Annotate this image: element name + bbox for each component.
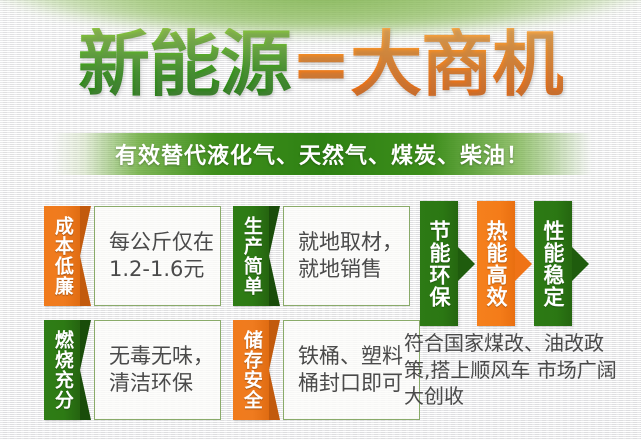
ribbon-label-text: 生产简单 (241, 216, 261, 296)
ribbon-label-combustion: 燃烧充分 (44, 320, 80, 420)
chevron-right-icon (515, 247, 532, 281)
policy-paragraph: 符合国家煤改、油改政 策,搭上顺风车 市场广阔 大创收 (404, 330, 641, 410)
benefit-ribbon-energy-saving: 节能环保 (420, 201, 458, 326)
feature-card-production: 生产简单 就地取材， 就地销售 (233, 206, 410, 306)
feature-card-combustion-box: 无毒无味， 清洁环保 (94, 320, 221, 420)
feature-line: 1.2-1.6元 (109, 256, 208, 283)
ribbon-label-text: 燃烧充分 (52, 330, 72, 410)
policy-line: 大创收 (404, 383, 641, 410)
headline-orange-part: =大商机 (291, 28, 563, 100)
ribbon-label-text: 成本低廉 (52, 216, 72, 296)
feature-card-cost: 成本低廉 每公斤仅在 1.2-1.6元 (44, 206, 221, 306)
policy-line: 策,搭上顺风车 市场广阔 (404, 357, 641, 384)
feature-line: 铁桶、塑料 (298, 343, 407, 370)
benefit-ribbon-label: 热能高效 (485, 220, 507, 308)
subtitle-bar: 有效替代液化气、天然气、煤炭、柴油！ (52, 133, 592, 175)
feature-line: 桶封口即可 (298, 370, 407, 397)
feature-card-cost-box: 每公斤仅在 1.2-1.6元 (94, 206, 221, 306)
chevron-right-icon (458, 247, 475, 281)
subtitle-text: 有效替代液化气、天然气、煤炭、柴油！ (115, 138, 529, 170)
feature-line: 每公斤仅在 (109, 229, 208, 256)
feature-line: 就地销售 (298, 256, 397, 283)
benefit-ribbon-stable-performance: 性能稳定 (534, 201, 572, 326)
benefit-ribbon-heat-efficiency: 热能高效 (477, 201, 515, 326)
ribbon-label-storage: 储存安全 (233, 320, 269, 420)
benefit-ribbon-label: 性能稳定 (542, 220, 564, 308)
feature-card-production-box: 就地取材， 就地销售 (283, 206, 410, 306)
policy-line: 符合国家煤改、油改政 (404, 330, 641, 357)
promo-banner: 新能源=大商机 有效替代液化气、天然气、煤炭、柴油！ 成本低廉 每公斤仅在 1.… (0, 0, 641, 440)
headline: 新能源=大商机 (0, 28, 641, 100)
chevron-right-icon (572, 247, 589, 281)
feature-line: 就地取材， (298, 229, 397, 256)
ribbon-label-cost: 成本低廉 (44, 206, 80, 306)
feature-card-storage: 储存安全 铁桶、塑料 桶封口即可 (233, 320, 420, 420)
feature-line: 清洁环保 (109, 370, 208, 397)
ribbon-label-text: 储存安全 (241, 330, 261, 410)
feature-card-storage-box: 铁桶、塑料 桶封口即可 (283, 320, 420, 420)
feature-line: 无毒无味， (109, 343, 208, 370)
benefit-ribbon-label: 节能环保 (428, 220, 450, 308)
feature-card-combustion: 燃烧充分 无毒无味， 清洁环保 (44, 320, 221, 420)
ribbon-label-production: 生产简单 (233, 206, 269, 306)
headline-green-part: 新能源 (78, 28, 291, 100)
